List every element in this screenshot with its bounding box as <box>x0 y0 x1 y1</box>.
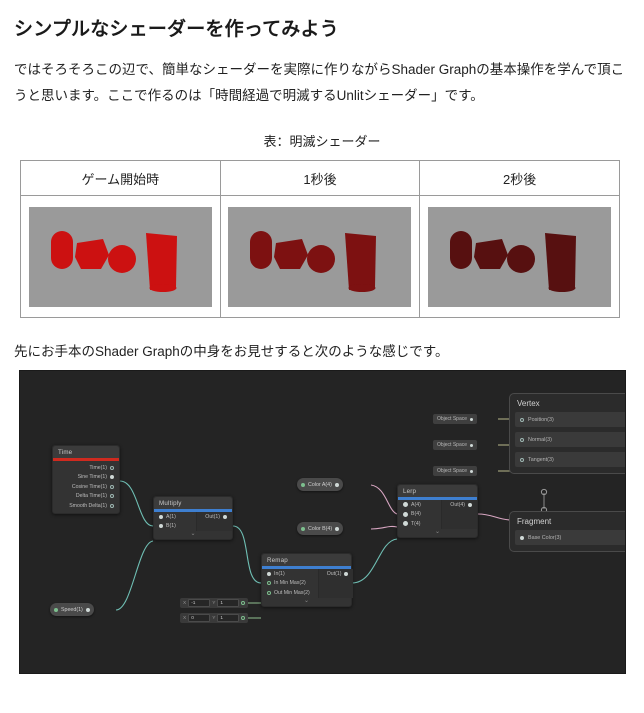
port-lerp-in-t[interactable]: T(4) <box>398 519 441 529</box>
node-multiply-title: Multiply <box>154 497 232 509</box>
intro-paragraph: ではそろそろこの辺で、簡単なシェーダーを実際に作りながらShader Graph… <box>14 57 630 109</box>
slot-label: Position(3) <box>528 417 554 423</box>
port-remap-out[interactable]: Out(1) <box>319 569 354 579</box>
node-remap-inputs: In(1) In Min Max(2) Out Min Max(2) <box>262 569 318 598</box>
port-label: Out(4) <box>450 502 465 508</box>
node-remap-body: In(1) In Min Max(2) Out Min Max(2) Out(1… <box>262 569 351 598</box>
table-header-cell-1: 1秒後 <box>220 161 420 196</box>
space-dropdown-normal[interactable]: Object Space <box>433 440 477 450</box>
field-x[interactable]: -1 <box>188 599 210 607</box>
port-lerp-out[interactable]: Out(4) <box>442 500 477 510</box>
port-label: Cosine Time(1) <box>72 484 107 490</box>
property-node-color-b[interactable]: Color B(4) <box>297 522 343 535</box>
master-node-vertex-title: Vertex <box>515 398 625 412</box>
property-node-color-a[interactable]: Color A(4) <box>297 478 343 491</box>
port-label: Out(1) <box>205 514 220 520</box>
port-dot-icon[interactable] <box>520 536 524 540</box>
render-preview-frame-0 <box>29 207 212 307</box>
space-label: Object Space <box>437 416 467 422</box>
axis-label-y: Y <box>212 616 215 621</box>
page-title: シンプルなシェーダーを作ってみよう <box>14 14 644 41</box>
port-time-out-2[interactable]: Cosine Time(1) <box>53 482 119 492</box>
node-multiply[interactable]: Multiply A(1) B(1) Out(1) <box>153 496 233 540</box>
shader-graph-canvas[interactable]: Time Time(1) Sine Time(1) Cosine Time(1)… <box>19 370 626 674</box>
port-label: Delta Time(1) <box>76 493 107 499</box>
port-dot-icon[interactable] <box>470 470 473 473</box>
port-dot-icon[interactable] <box>520 438 524 442</box>
table-cell-2 <box>420 196 620 318</box>
port-dot-icon[interactable] <box>344 572 348 576</box>
field-y[interactable]: 1 <box>217 614 239 622</box>
master-node-vertex[interactable]: Vertex Position(3) Normal(3) Tangent(3) <box>509 393 626 474</box>
graph-intro-paragraph: 先にお手本のShader Graphの中身をお見せすると次のような感じです。 <box>14 340 644 360</box>
node-lerp-title: Lerp <box>398 485 477 497</box>
port-remap-out-min-max[interactable]: Out Min Max(2) <box>262 588 318 598</box>
table-header-row: ゲーム開始時 1秒後 2秒後 <box>21 161 620 196</box>
table-row <box>21 196 620 318</box>
node-multiply-body: A(1) B(1) Out(1) <box>154 512 232 531</box>
node-lerp-body: A(4) B(4) T(4) Out(4) <box>398 500 477 529</box>
slot-normal[interactable]: Normal(3) <box>515 432 626 447</box>
port-dot-icon[interactable] <box>241 601 245 605</box>
port-dot-icon[interactable] <box>110 475 114 479</box>
node-lerp-inputs: A(4) B(4) T(4) <box>398 500 441 529</box>
node-time[interactable]: Time Time(1) Sine Time(1) Cosine Time(1)… <box>52 445 120 514</box>
port-dot-icon[interactable] <box>267 572 271 576</box>
port-dot-icon[interactable] <box>468 503 472 507</box>
port-lerp-in-b[interactable]: B(4) <box>398 510 441 520</box>
port-remap-in-min-max[interactable]: In Min Max(2) <box>262 579 318 589</box>
port-dot-icon[interactable] <box>267 591 271 595</box>
node-remap[interactable]: Remap In(1) In Min Max(2) Out Min Max(2) <box>261 553 352 607</box>
slot-label: Normal(3) <box>528 437 552 443</box>
slot-base-color[interactable]: Base Color(3) <box>515 530 626 545</box>
render-preview-frame-1 <box>228 207 411 307</box>
property-node-speed[interactable]: Speed(1) <box>50 603 94 616</box>
port-label: A(4) <box>411 502 421 508</box>
node-remap-outputs: Out(1) <box>318 569 354 598</box>
port-label: Out Min Max(2) <box>274 590 310 596</box>
axis-label-x: X <box>183 616 186 621</box>
port-label: In(1) <box>274 571 285 577</box>
port-dot-icon[interactable] <box>403 521 408 526</box>
port-lerp-in-a[interactable]: A(4) <box>398 500 441 510</box>
node-lerp-collapse-toggle[interactable]: ⌄ <box>398 529 477 537</box>
field-x[interactable]: 0 <box>188 614 210 622</box>
property-dot-icon <box>301 527 305 531</box>
node-time-body: Time(1) Sine Time(1) Cosine Time(1) Delt… <box>53 461 119 513</box>
render-preview-1 <box>228 207 411 307</box>
port-dot-icon[interactable] <box>223 515 227 519</box>
property-label: Speed(1) <box>61 607 83 613</box>
slot-label: Base Color(3) <box>528 535 561 541</box>
render-preview-0 <box>29 207 212 307</box>
port-dot-icon[interactable] <box>335 527 339 531</box>
node-multiply-outputs: Out(1) <box>196 512 232 531</box>
render-preview-2 <box>428 207 611 307</box>
port-dot-icon[interactable] <box>159 524 163 528</box>
port-label: B(1) <box>166 523 176 529</box>
article-page: シンプルなシェーダーを作ってみよう ではそろそろこの辺で、簡単なシェーダーを実際… <box>0 14 644 674</box>
port-dot-icon[interactable] <box>267 581 271 585</box>
node-time-title: Time <box>53 446 119 458</box>
port-dot-icon[interactable] <box>241 616 245 620</box>
slot-tangent[interactable]: Tangent(3) <box>515 452 626 467</box>
table-caption: 表：明滅シェーダー <box>0 131 644 150</box>
property-dot-icon <box>301 483 305 487</box>
port-multiply-in-a[interactable]: A(1) <box>154 512 196 522</box>
port-dot-icon[interactable] <box>110 504 114 508</box>
table-cell-0 <box>21 196 221 318</box>
port-dot-icon[interactable] <box>520 458 524 462</box>
comparison-table: ゲーム開始時 1秒後 2秒後 <box>20 160 620 318</box>
property-label: Color B(4) <box>308 526 332 532</box>
space-dropdown-position[interactable]: Object Space <box>433 414 477 424</box>
field-y[interactable]: 1 <box>217 599 239 607</box>
axis-label-x: X <box>183 601 186 606</box>
master-node-fragment-title: Fragment <box>515 516 625 530</box>
port-dot-icon[interactable] <box>470 444 473 447</box>
port-dot-icon[interactable] <box>470 418 473 421</box>
port-label: Sine Time(1) <box>78 474 107 480</box>
port-label: B(4) <box>411 511 421 517</box>
port-label: T(4) <box>411 521 421 527</box>
node-lerp-outputs: Out(4) <box>441 500 477 529</box>
table-cell-1 <box>220 196 420 318</box>
port-dot-icon[interactable] <box>110 494 114 498</box>
port-time-out-1[interactable]: Sine Time(1) <box>53 473 119 483</box>
port-dot-icon[interactable] <box>110 466 114 470</box>
port-dot-icon[interactable] <box>520 418 524 422</box>
node-remap-collapse-toggle[interactable]: ⌄ <box>262 598 351 606</box>
master-node-fragment[interactable]: Fragment Base Color(3) <box>509 511 626 552</box>
axis-label-y: Y <box>212 601 215 606</box>
space-label: Object Space <box>437 442 467 448</box>
slot-label: Tangent(3) <box>528 457 554 463</box>
port-multiply-in-b[interactable]: B(1) <box>154 522 196 532</box>
port-dot-icon[interactable] <box>159 515 163 519</box>
space-label: Object Space <box>437 468 467 474</box>
port-label: A(1) <box>166 514 176 520</box>
node-lerp[interactable]: Lerp A(4) B(4) T(4) <box>397 484 478 538</box>
slot-position[interactable]: Position(3) <box>515 412 626 427</box>
port-multiply-out[interactable]: Out(1) <box>197 512 232 522</box>
port-dot-icon[interactable] <box>335 483 339 487</box>
port-time-out-4[interactable]: Smooth Delta(1) <box>53 501 119 511</box>
port-time-out-3[interactable]: Delta Time(1) <box>53 492 119 502</box>
table-header-cell-0: ゲーム開始時 <box>21 161 221 196</box>
property-label: Color A(4) <box>308 482 332 488</box>
port-label: Time(1) <box>89 465 107 471</box>
render-preview-frame-2 <box>428 207 611 307</box>
vector2-out-min-max[interactable]: X 0 Y 1 <box>180 613 248 623</box>
node-multiply-inputs: A(1) B(1) <box>154 512 196 531</box>
node-multiply-collapse-toggle[interactable]: ⌄ <box>154 531 232 539</box>
table-header-cell-2: 2秒後 <box>420 161 620 196</box>
port-dot-icon[interactable] <box>403 512 408 517</box>
property-dot-icon <box>54 608 58 612</box>
port-label: Out(1) <box>327 571 342 577</box>
port-label: Smooth Delta(1) <box>69 503 107 509</box>
port-label: In Min Max(2) <box>274 580 306 586</box>
port-remap-in[interactable]: In(1) <box>262 569 318 579</box>
port-dot-icon[interactable] <box>86 608 90 612</box>
vector2-in-min-max[interactable]: X -1 Y 1 <box>180 598 248 608</box>
port-dot-icon[interactable] <box>403 502 408 507</box>
port-time-out-0[interactable]: Time(1) <box>53 463 119 473</box>
space-dropdown-tangent[interactable]: Object Space <box>433 466 477 476</box>
node-remap-title: Remap <box>262 554 351 566</box>
port-dot-icon[interactable] <box>110 485 114 489</box>
